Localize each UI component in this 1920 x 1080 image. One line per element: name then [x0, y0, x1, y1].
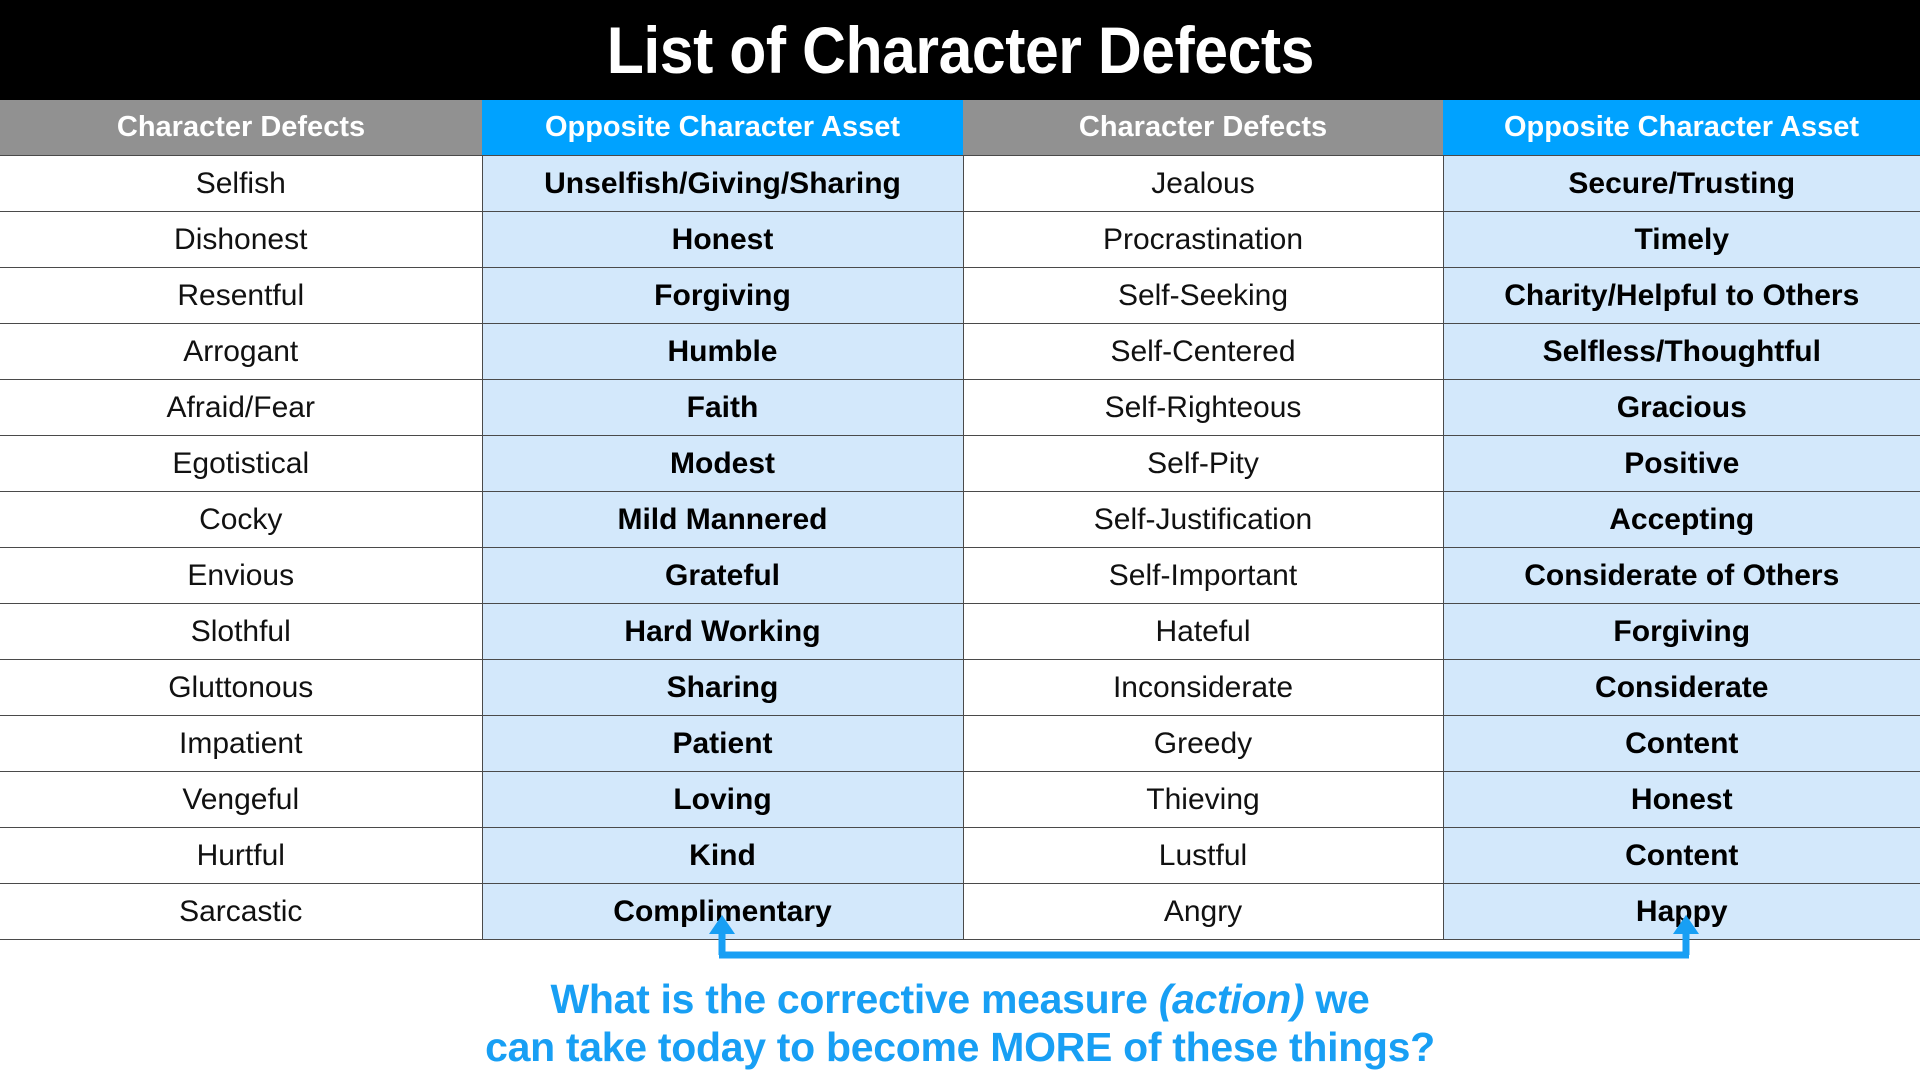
table-row: SlothfulHard WorkingHatefulForgiving [0, 604, 1920, 660]
table-row: SelfishUnselfish/Giving/SharingJealousSe… [0, 156, 1920, 212]
asset-cell: Selfless/Thoughtful [1443, 324, 1920, 380]
table-header: Character Defects Opposite Character Ass… [0, 100, 1920, 156]
table-body: SelfishUnselfish/Giving/SharingJealousSe… [0, 156, 1920, 940]
table-row: EgotisticalModestSelf-PityPositive [0, 436, 1920, 492]
column-header-asset-left: Opposite Character Asset [482, 100, 963, 156]
asset-cell: Humble [482, 324, 963, 380]
table-row: SarcasticComplimentaryAngryHappy [0, 884, 1920, 940]
defect-cell: Greedy [963, 716, 1443, 772]
title-bar: List of Character Defects [0, 0, 1920, 100]
asset-cell: Faith [482, 380, 963, 436]
defect-cell: Self-Righteous [963, 380, 1443, 436]
caption-line-1: What is the corrective measure (action) … [0, 976, 1920, 1024]
defect-cell: Slothful [0, 604, 482, 660]
asset-cell: Considerate [1443, 660, 1920, 716]
table-row: GluttonousSharingInconsiderateConsiderat… [0, 660, 1920, 716]
asset-cell: Kind [482, 828, 963, 884]
asset-cell: Forgiving [1443, 604, 1920, 660]
column-header-defects-left: Character Defects [0, 100, 482, 156]
table-row: CockyMild ManneredSelf-JustificationAcce… [0, 492, 1920, 548]
defect-cell: Dishonest [0, 212, 482, 268]
defect-cell: Gluttonous [0, 660, 482, 716]
asset-cell: Forgiving [482, 268, 963, 324]
table-row: HurtfulKindLustfulContent [0, 828, 1920, 884]
asset-cell: Grateful [482, 548, 963, 604]
asset-cell: Content [1443, 828, 1920, 884]
column-header-defects-right: Character Defects [963, 100, 1443, 156]
page-title: List of Character Defects [606, 17, 1313, 83]
asset-cell: Secure/Trusting [1443, 156, 1920, 212]
asset-cell: Unselfish/Giving/Sharing [482, 156, 963, 212]
asset-cell: Patient [482, 716, 963, 772]
caption-line-2: can take today to become MORE of these t… [0, 1024, 1920, 1072]
caption-line1-italic: (action) [1159, 976, 1305, 1022]
defect-cell: Inconsiderate [963, 660, 1443, 716]
table-row: VengefulLovingThievingHonest [0, 772, 1920, 828]
table-row: ImpatientPatientGreedyContent [0, 716, 1920, 772]
defect-cell: Afraid/Fear [0, 380, 482, 436]
header-row: Character Defects Opposite Character Ass… [0, 100, 1920, 156]
defect-cell: Impatient [0, 716, 482, 772]
defect-cell: Self-Important [963, 548, 1443, 604]
defect-cell: Cocky [0, 492, 482, 548]
asset-cell: Positive [1443, 436, 1920, 492]
slide-root: List of Character Defects Character Defe… [0, 0, 1920, 1080]
asset-cell: Sharing [482, 660, 963, 716]
caption-line1-before: What is the corrective measure [550, 976, 1158, 1022]
asset-cell: Happy [1443, 884, 1920, 940]
asset-cell: Mild Mannered [482, 492, 963, 548]
asset-cell: Hard Working [482, 604, 963, 660]
defect-cell: Hurtful [0, 828, 482, 884]
defect-cell: Angry [963, 884, 1443, 940]
defect-cell: Sarcastic [0, 884, 482, 940]
table-row: Afraid/FearFaithSelf-RighteousGracious [0, 380, 1920, 436]
defect-cell: Thieving [963, 772, 1443, 828]
asset-cell: Accepting [1443, 492, 1920, 548]
defect-cell: Self-Pity [963, 436, 1443, 492]
table-row: EnviousGratefulSelf-ImportantConsiderate… [0, 548, 1920, 604]
asset-cell: Honest [1443, 772, 1920, 828]
asset-cell: Considerate of Others [1443, 548, 1920, 604]
caption-line1-after: we [1304, 976, 1369, 1022]
defect-cell: Envious [0, 548, 482, 604]
asset-cell: Honest [482, 212, 963, 268]
asset-cell: Complimentary [482, 884, 963, 940]
asset-cell: Content [1443, 716, 1920, 772]
table-row: ArrogantHumbleSelf-CenteredSelfless/Thou… [0, 324, 1920, 380]
defect-cell: Self-Seeking [963, 268, 1443, 324]
defect-cell: Resentful [0, 268, 482, 324]
asset-cell: Loving [482, 772, 963, 828]
defect-cell: Vengeful [0, 772, 482, 828]
asset-cell: Modest [482, 436, 963, 492]
defect-cell: Selfish [0, 156, 482, 212]
caption-block: What is the corrective measure (action) … [0, 976, 1920, 1072]
table-row: ResentfulForgivingSelf-SeekingCharity/He… [0, 268, 1920, 324]
defect-cell: Lustful [963, 828, 1443, 884]
defect-cell: Self-Centered [963, 324, 1443, 380]
character-defects-table: Character Defects Opposite Character Ass… [0, 100, 1920, 940]
defect-cell: Self-Justification [963, 492, 1443, 548]
column-header-asset-right: Opposite Character Asset [1443, 100, 1920, 156]
defect-cell: Procrastination [963, 212, 1443, 268]
asset-cell: Charity/Helpful to Others [1443, 268, 1920, 324]
defect-cell: Egotistical [0, 436, 482, 492]
defect-cell: Jealous [963, 156, 1443, 212]
asset-cell: Timely [1443, 212, 1920, 268]
table-row: DishonestHonestProcrastinationTimely [0, 212, 1920, 268]
defect-cell: Arrogant [0, 324, 482, 380]
asset-cell: Gracious [1443, 380, 1920, 436]
defect-cell: Hateful [963, 604, 1443, 660]
